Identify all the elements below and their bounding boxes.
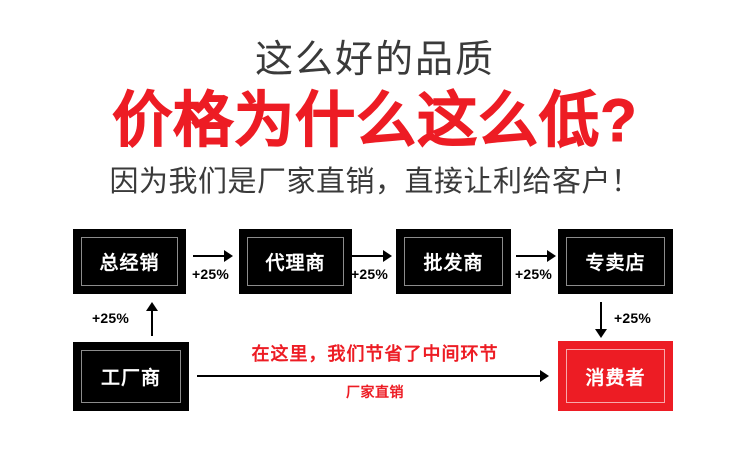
arrow-down-icon: [595, 302, 607, 338]
arrow-shaft: [193, 255, 224, 257]
flow-node-label: 总经销: [99, 248, 159, 275]
flow-node-label: 批发商: [423, 248, 483, 275]
arrow-head: [224, 250, 233, 262]
flow-node-general-distributor: 总经销: [73, 229, 186, 294]
flow-node-label: 代理商: [265, 248, 325, 275]
markup-label-step-1: +25%: [192, 266, 229, 282]
flow-node-wholesaler: 批发商: [396, 229, 511, 294]
arrow-head: [540, 370, 549, 382]
arrow-direct-channel-icon: [197, 370, 549, 382]
markup-label-factory-to-chain: +25%: [92, 310, 129, 326]
arrow-head: [547, 250, 556, 262]
flow-node-agent: 代理商: [239, 229, 352, 294]
distribution-flow-diagram: 总经销 代理商 批发商 专卖店 工厂商 消费者: [0, 0, 750, 468]
arrow-head: [383, 250, 392, 262]
arrow-shaft: [352, 255, 383, 257]
arrow-head: [595, 329, 607, 338]
flow-node-factory: 工厂商: [73, 342, 189, 411]
flow-node-specialty-store: 专卖店: [558, 229, 673, 294]
arrow-up-icon: [146, 302, 158, 336]
markup-label-store-to-consumer: +25%: [614, 310, 651, 326]
flow-node-consumer: 消费者: [558, 341, 673, 411]
markup-label-step-2: +25%: [351, 266, 388, 282]
arrow-shaft: [600, 302, 602, 330]
arrow-shaft: [516, 255, 547, 257]
direct-channel-label: 厂家直销: [200, 382, 550, 402]
markup-label-step-3: +25%: [515, 266, 552, 282]
arrow-shaft: [197, 375, 540, 377]
direct-channel-save-note: 在这里，我们节省了中间环节: [200, 340, 550, 366]
arrow-shaft: [151, 310, 153, 336]
poster-canvas: 这么好的品质 价格为什么这么低? 因为我们是厂家直销，直接让利给客户！ 总经销 …: [0, 0, 750, 468]
arrow-right-icon: [352, 250, 392, 262]
flow-node-label: 专卖店: [585, 248, 645, 275]
arrow-right-icon: [193, 250, 233, 262]
flow-node-label: 工厂商: [101, 363, 161, 390]
arrow-right-icon: [516, 250, 556, 262]
flow-node-label: 消费者: [585, 363, 645, 390]
